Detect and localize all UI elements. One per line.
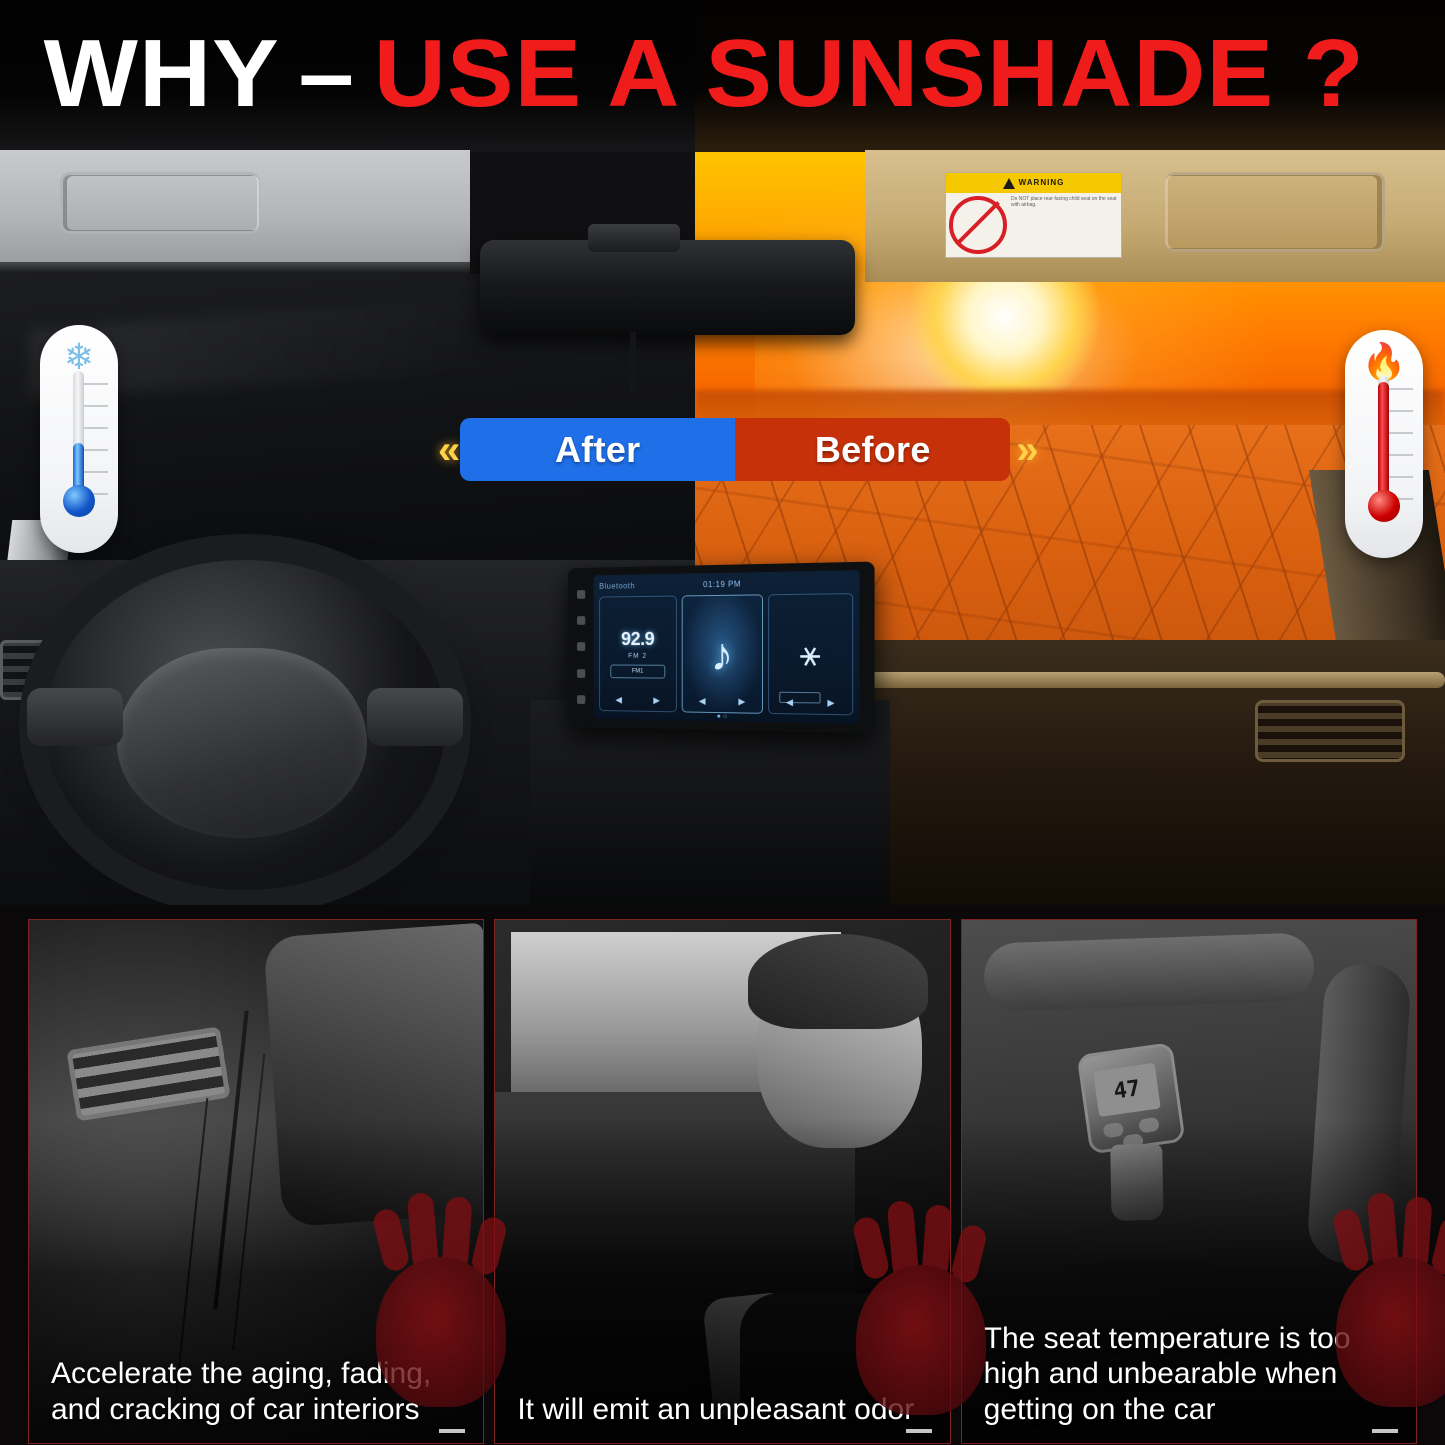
seat-back-bolster [983,932,1315,1011]
media-prev-icon[interactable]: ◀ [699,696,706,707]
steering-wheel-control-right [367,688,463,746]
radio-card[interactable]: 92.9 FM 2 FM1 ◀ ▶ [599,596,677,713]
title-dash: – [280,26,374,122]
warning-triangle-icon [1003,178,1015,189]
hero-comparison: WARNING Do NOT place rear-facing child s… [0,0,1445,905]
before-after-badge: « After Before » [432,418,1039,481]
title-bar: WHY – USE A SUNSHADE ? [0,0,1445,148]
music-note-icon: ♪ [711,631,734,677]
sun-visor-right: WARNING Do NOT place rear-facing child s… [865,150,1445,282]
card-caption: Accelerate the aging, fading, and cracki… [51,1356,469,1427]
snowflake-icon: ❄ [40,339,118,375]
air-vent-right [1255,700,1405,762]
caption-dash [906,1429,932,1433]
apps-icon[interactable] [577,669,585,678]
before-label: Before [735,418,1010,481]
profile-card[interactable]: ⚹ ◀ ▶ [768,593,853,715]
home-icon[interactable] [577,616,585,625]
cold-thermometer: ❄ [40,325,118,553]
infotainment-display: Bluetooth 01:19 PM 92.9 FM 2 FM1 ◀ ▶ [594,570,860,724]
flame-icon: 🔥 [1345,344,1423,380]
consequence-card-hot-seat: 47 The seat temperature is too high and … [961,919,1417,1444]
infotainment-side-buttons[interactable] [573,581,588,712]
consequence-cards: Accelerate the aging, fading, and cracki… [0,919,1445,1444]
warning-label-heading: WARNING [946,173,1121,193]
radio-preset[interactable]: FM1 [610,665,665,679]
airbag-warning-label: WARNING Do NOT place rear-facing child s… [945,172,1122,258]
profile-prev-icon[interactable]: ◀ [786,697,793,708]
title-why: WHY [44,26,280,122]
sun-visor-left-edge [0,262,470,274]
media-card[interactable]: ♪ ◀ ▶ [682,594,763,713]
volume-icon[interactable] [577,643,585,652]
radio-controls[interactable]: ◀ ▶ [600,695,676,707]
mirror-stem [630,332,636,392]
after-label: After [460,418,735,481]
product-infographic: WARNING Do NOT place rear-facing child s… [0,0,1445,1445]
thermometer-fill-hot [1378,382,1389,506]
thermometer-gun-reading: 47 [1093,1063,1161,1117]
dashboard-vent [66,1026,230,1121]
consequences-section: Prolonged exposure to high temperatures … [0,905,1445,1445]
media-next-icon[interactable]: ▶ [738,696,745,707]
chevron-left-icon: « [432,430,460,470]
hot-thermometer: 🔥 [1345,330,1423,558]
card-caption: It will emit an unpleasant odor [517,1392,935,1427]
infotainment-clock: 01:19 PM [703,579,741,589]
warning-label-body: Do NOT place rear-facing child seat on t… [946,193,1121,257]
menu-icon[interactable] [577,695,585,704]
radio-frequency: 92.9 [621,629,654,651]
profile-next-icon[interactable]: ▶ [827,697,834,708]
media-controls[interactable]: ◀ ▶ [683,696,762,708]
radio-band: FM 2 [628,653,647,660]
warning-text: WARNING [1019,178,1065,188]
page-title: WHY – USE A SUNSHADE ? [0,26,1365,122]
radio-prev-icon[interactable]: ◀ [615,695,621,706]
power-icon[interactable] [577,590,585,599]
chevron-right-icon: » [1010,430,1038,470]
card-caption: The seat temperature is too high and unb… [984,1321,1402,1427]
sun-visor-left [0,150,470,265]
steering-wheel [45,560,445,890]
rear-view-mirror [480,240,855,335]
profile-controls[interactable]: ◀ ▶ [769,697,852,709]
infotainment-cards: 92.9 FM 2 FM1 ◀ ▶ ♪ ◀ ▶ [599,593,853,715]
infotainment-source: Bluetooth [599,581,635,590]
infotainment-status-bar: Bluetooth 01:19 PM [594,573,860,594]
consequence-card-odor: It will emit an unpleasant odor [494,919,950,1444]
thermometer-bulb-cold [63,485,95,517]
consequence-card-aging: Accelerate the aging, fading, and cracki… [28,919,484,1444]
person-icon: ⚹ [800,637,821,672]
title-question: USE A SUNSHADE ? [374,26,1365,122]
steering-wheel-control-left [27,688,123,746]
no-child-seat-icon [949,196,1007,254]
warning-label-text: Do NOT place rear-facing child seat on t… [1007,196,1118,254]
infotainment-screen[interactable]: Bluetooth 01:19 PM 92.9 FM 2 FM1 ◀ ▶ [568,562,875,734]
thermometer-bulb-hot [1368,490,1400,522]
radio-next-icon[interactable]: ▶ [653,695,660,706]
caption-dash [439,1429,465,1433]
person-hair [748,934,928,1029]
caption-dash [1372,1429,1398,1433]
